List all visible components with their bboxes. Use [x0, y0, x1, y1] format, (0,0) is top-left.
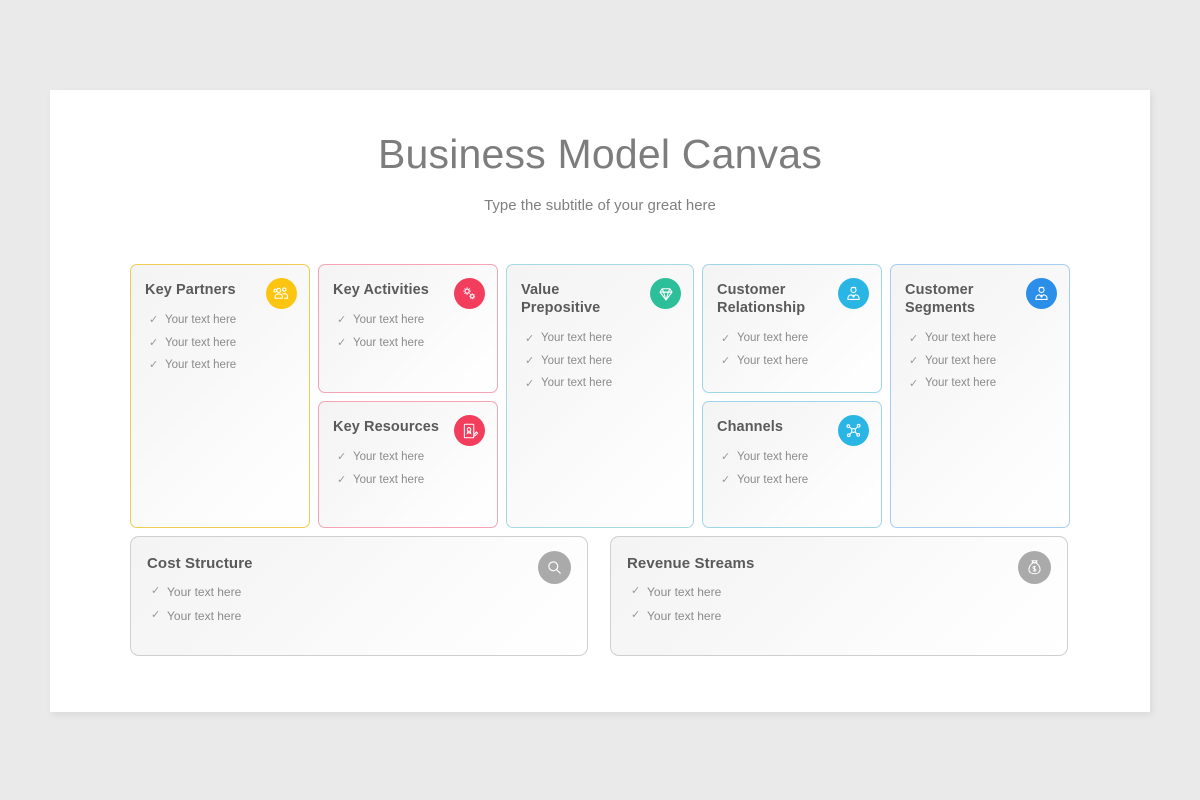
card-key-resources[interactable]: Key Resources ✓ Your text here — [318, 401, 498, 528]
check-icon: ✓ — [145, 315, 165, 326]
people-group-icon — [266, 278, 297, 309]
list-item-label: Your text here — [737, 356, 808, 368]
list-item: ✓ Your text here — [147, 610, 571, 622]
list-item-label: Your text here — [541, 378, 612, 390]
check-icon: ✓ — [145, 360, 165, 371]
check-icon: ✓ — [717, 356, 737, 367]
column-value-prepositive: Value Prepositive ✓ Your text here — [506, 264, 694, 528]
list-item: ✓ Your text here — [521, 333, 679, 345]
list-item-label: Your text here — [353, 315, 424, 327]
check-icon: ✓ — [627, 610, 647, 621]
list-item: ✓ Your text here — [521, 378, 679, 390]
check-icon: ✓ — [717, 334, 737, 345]
list-item-label: Your text here — [737, 333, 808, 345]
diamond-icon — [650, 278, 681, 309]
page-subtitle: Type the subtitle of your great here — [50, 197, 1150, 214]
list-item-label: Your text here — [353, 475, 424, 487]
list-item: ✓ Your text here — [905, 356, 1055, 368]
list-item: ✓ Your text here — [717, 333, 867, 345]
card-item-list: ✓ Your text here ✓ Your text here ✓ Your… — [905, 333, 1055, 390]
card-item-list: ✓ Your text here ✓ Your text here — [717, 452, 867, 486]
list-item: ✓ Your text here — [717, 475, 867, 487]
slide-header: Business Model Canvas Type the subtitle … — [50, 90, 1150, 214]
list-item-label: Your text here — [541, 356, 612, 368]
check-icon: ✓ — [905, 356, 925, 367]
business-model-canvas-grid: Key Partners ✓ Your text — [130, 264, 1070, 656]
list-item-label: Your text here — [353, 452, 424, 464]
list-item: ✓ Your text here — [627, 586, 1051, 598]
check-icon: ✓ — [717, 452, 737, 463]
list-item-label: Your text here — [541, 333, 612, 345]
money-bag-icon — [1018, 551, 1051, 584]
slide-canvas: Business Model Canvas Type the subtitle … — [50, 90, 1150, 712]
list-item: ✓ Your text here — [333, 338, 483, 350]
column-customer-relationship-channels: Customer Relationship ✓ Your text here — [702, 264, 882, 528]
certificate-document-icon — [454, 415, 485, 446]
check-icon: ✓ — [521, 379, 541, 390]
card-title: Revenue Streams — [627, 555, 1051, 574]
card-title: Cost Structure — [147, 555, 571, 574]
check-icon: ✓ — [333, 475, 353, 486]
card-value-prepositive[interactable]: Value Prepositive ✓ Your text here — [506, 264, 694, 528]
check-icon: ✓ — [147, 610, 167, 621]
list-item: ✓ Your text here — [147, 586, 571, 598]
list-item-label: Your text here — [737, 475, 808, 487]
card-revenue-streams[interactable]: Revenue Streams ✓ Your text here — [610, 536, 1068, 656]
list-item: ✓ Your text here — [145, 315, 295, 327]
check-icon: ✓ — [147, 586, 167, 597]
card-item-list: ✓ Your text here ✓ Your text here ✓ Your… — [521, 333, 679, 390]
gears-icon — [454, 278, 485, 309]
check-icon: ✓ — [905, 334, 925, 345]
list-item-label: Your text here — [167, 586, 241, 598]
list-item-label: Your text here — [925, 378, 996, 390]
check-icon: ✓ — [627, 586, 647, 597]
list-item-label: Your text here — [167, 610, 241, 622]
card-key-activities[interactable]: Key Activities ✓ Your text here — [318, 264, 498, 393]
list-item: ✓ Your text here — [905, 333, 1055, 345]
list-item: ✓ Your text here — [627, 610, 1051, 622]
check-icon: ✓ — [145, 338, 165, 349]
card-channels[interactable]: Channels ✓ — [702, 401, 882, 528]
list-item-label: Your text here — [737, 452, 808, 464]
column-key-activities-resources: Key Activities ✓ Your text here — [318, 264, 498, 528]
list-item: ✓ Your text here — [905, 378, 1055, 390]
card-cost-structure[interactable]: Cost Structure ✓ Your text here ✓ Your t… — [130, 536, 588, 656]
list-item-label: Your text here — [925, 356, 996, 368]
card-item-list: ✓ Your text here ✓ Your text here — [147, 586, 571, 622]
list-item: ✓ Your text here — [521, 356, 679, 368]
card-customer-relationship[interactable]: Customer Relationship ✓ Your text here — [702, 264, 882, 393]
column-key-partners: Key Partners ✓ Your text — [130, 264, 310, 528]
magnifier-icon — [538, 551, 571, 584]
check-icon: ✓ — [905, 379, 925, 390]
card-item-list: ✓ Your text here ✓ Your text here ✓ Your… — [145, 315, 295, 372]
list-item: ✓ Your text here — [333, 452, 483, 464]
card-item-list: ✓ Your text here ✓ Your text here — [717, 333, 867, 367]
card-customer-segments[interactable]: Customer Segments ✓ Your text here — [890, 264, 1070, 528]
check-icon: ✓ — [521, 334, 541, 345]
check-icon: ✓ — [333, 338, 353, 349]
list-item: ✓ Your text here — [717, 356, 867, 368]
list-item-label: Your text here — [647, 586, 721, 598]
card-key-partners[interactable]: Key Partners ✓ Your text — [130, 264, 310, 528]
list-item-label: Your text here — [647, 610, 721, 622]
list-item-label: Your text here — [165, 360, 236, 372]
card-item-list: ✓ Your text here ✓ Your text here — [333, 315, 483, 349]
check-icon: ✓ — [521, 356, 541, 367]
card-item-list: ✓ Your text here ✓ Your text here — [627, 586, 1051, 622]
list-item-label: Your text here — [165, 315, 236, 327]
list-item-label: Your text here — [353, 338, 424, 350]
canvas-bottom-row: Cost Structure ✓ Your text here ✓ Your t… — [130, 536, 1070, 656]
network-hub-icon — [838, 415, 869, 446]
canvas-top-row: Key Partners ✓ Your text — [130, 264, 1070, 528]
page-title: Business Model Canvas — [50, 132, 1150, 177]
list-item: ✓ Your text here — [145, 360, 295, 372]
list-item-label: Your text here — [925, 333, 996, 345]
list-item: ✓ Your text here — [333, 475, 483, 487]
user-profile-icon — [1026, 278, 1057, 309]
list-item-label: Your text here — [165, 338, 236, 350]
list-item: ✓ Your text here — [145, 338, 295, 350]
check-icon: ✓ — [333, 315, 353, 326]
list-item: ✓ Your text here — [717, 452, 867, 464]
support-agent-icon — [838, 278, 869, 309]
column-customer-segments: Customer Segments ✓ Your text here — [890, 264, 1070, 528]
check-icon: ✓ — [717, 475, 737, 486]
card-item-list: ✓ Your text here ✓ Your text here — [333, 452, 483, 486]
check-icon: ✓ — [333, 452, 353, 463]
list-item: ✓ Your text here — [333, 315, 483, 327]
